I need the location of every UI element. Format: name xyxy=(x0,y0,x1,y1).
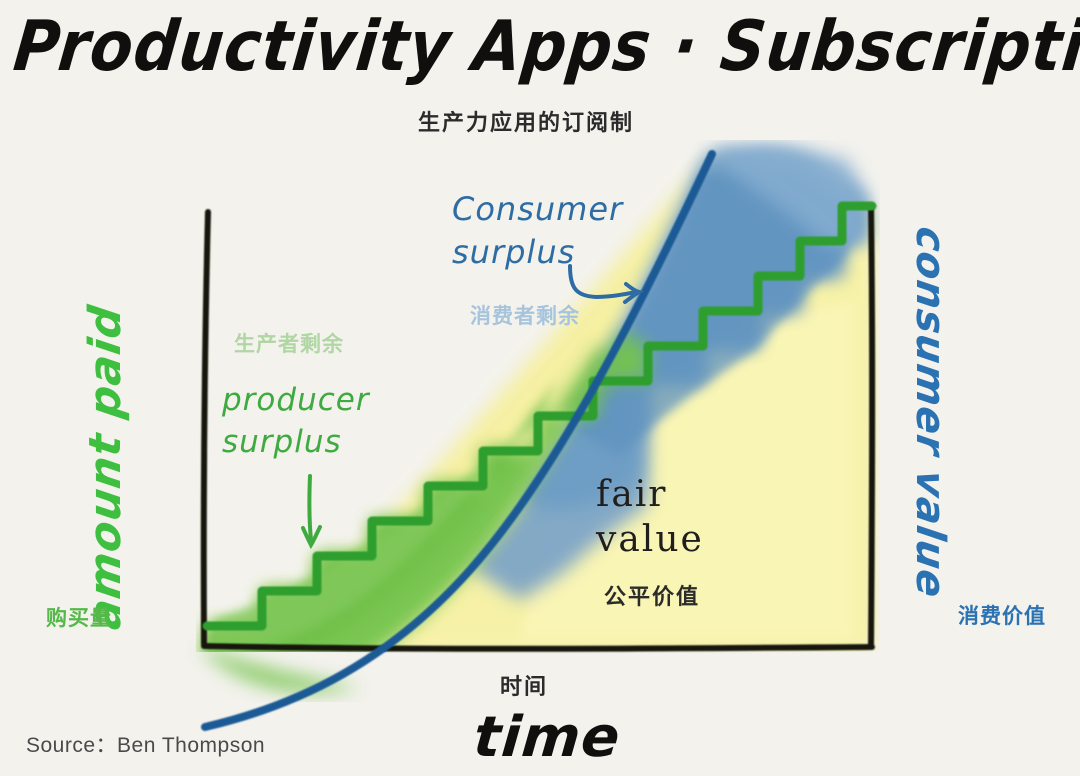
x-axis-label: time xyxy=(472,710,623,766)
fair-value-annotation: fair value xyxy=(596,472,704,562)
x-axis-line xyxy=(204,646,872,649)
chart-page: Productivity Apps · Subscriptions 生产力应用的… xyxy=(0,0,1080,776)
x-axis-label-cn: 时间 xyxy=(500,676,548,698)
y-axis-label: amount paid xyxy=(84,302,128,632)
producer-surplus-spill xyxy=(200,648,360,693)
page-title: Productivity Apps · Subscriptions xyxy=(11,12,1080,81)
page-subtitle-cn: 生产力应用的订阅制 xyxy=(418,112,634,134)
right-bound-line xyxy=(871,206,872,646)
consumer-surplus-annotation: Consumer surplus xyxy=(452,188,623,274)
consumer-surplus-annotation-cn: 消费者剩余 xyxy=(470,306,580,327)
y-axis-line xyxy=(204,212,208,644)
source-note: Source：Ben Thompson xyxy=(26,735,265,756)
fair-value-annotation-cn: 公平价值 xyxy=(604,586,700,608)
right-axis-label-cn: 消费价值 xyxy=(958,606,1046,627)
producer-surplus-annotation: producer surplus xyxy=(222,380,370,464)
producer-surplus-annotation-cn: 生产者剩余 xyxy=(234,334,344,355)
right-axis-label: consumer value xyxy=(910,224,950,600)
y-axis-label-cn: 购买量 xyxy=(46,608,112,629)
arrow-down-icon xyxy=(303,476,320,545)
